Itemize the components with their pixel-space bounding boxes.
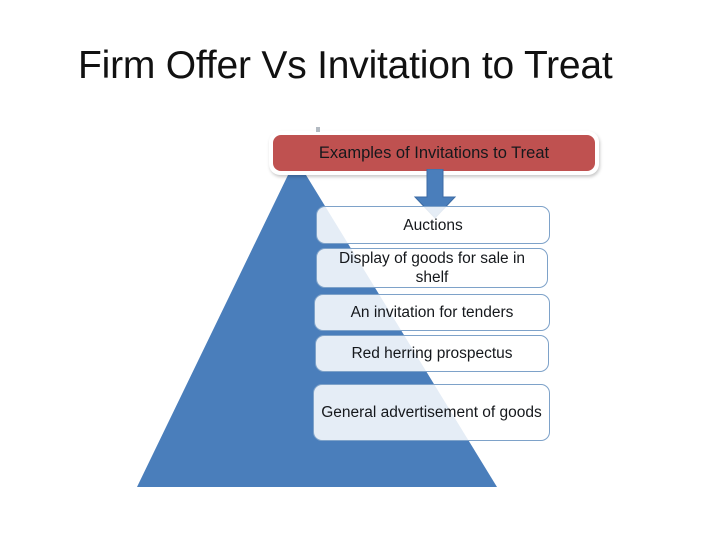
- list-item-label: An invitation for tenders: [345, 303, 520, 322]
- list-item[interactable]: An invitation for tenders: [314, 294, 550, 331]
- list-item[interactable]: Red herring prospectus: [315, 335, 549, 372]
- list-item[interactable]: Auctions: [316, 206, 550, 244]
- list-item[interactable]: Display of goods for sale in shelf: [316, 248, 548, 288]
- list-item-label: Red herring prospectus: [345, 344, 518, 363]
- list-item-label: General advertisement of goods: [315, 403, 548, 422]
- slide: Firm Offer Vs Invitation to Treat Exampl…: [0, 0, 728, 546]
- list-item-label: Display of goods for sale in shelf: [317, 249, 547, 287]
- item-list: Auctions Display of goods for sale in sh…: [0, 0, 728, 546]
- list-item-label: Auctions: [397, 216, 468, 235]
- list-item[interactable]: General advertisement of goods: [313, 384, 550, 441]
